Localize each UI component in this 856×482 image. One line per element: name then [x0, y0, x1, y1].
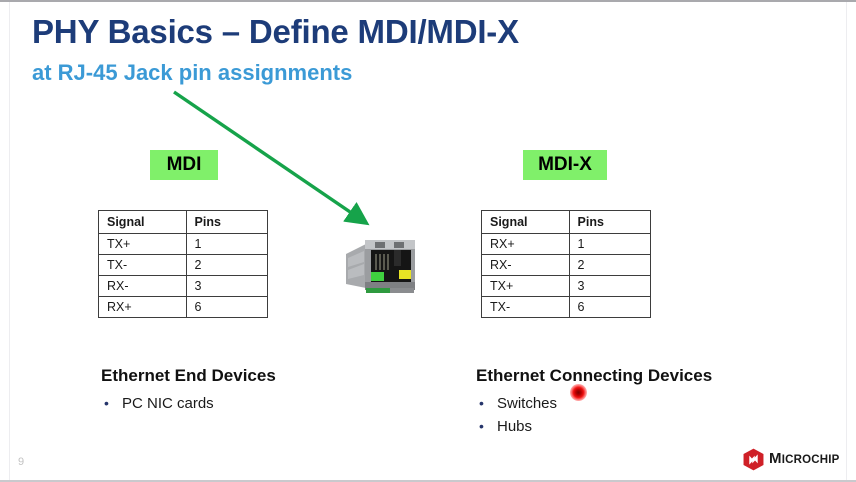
laser-pointer-dot: [570, 384, 587, 401]
bullet-icon: •: [479, 395, 497, 411]
list-item-label: PC NIC cards: [122, 395, 214, 412]
mdi-pin-table: Signal Pins TX+ 1 TX- 2 RX- 3 RX+ 6: [98, 210, 268, 318]
cell-pin: 6: [569, 297, 650, 318]
mdix-pin-table: Signal Pins RX+ 1 RX- 2 TX+ 3 TX- 6: [481, 210, 651, 318]
bullet-icon: •: [104, 395, 122, 411]
cell-pin: 3: [186, 276, 267, 297]
cell-signal: RX+: [99, 297, 187, 318]
cell-pin: 3: [569, 276, 650, 297]
section-heading-end-devices: Ethernet End Devices: [101, 366, 276, 386]
cell-pin: 1: [186, 234, 267, 255]
cell-signal: RX-: [99, 276, 187, 297]
cell-pin: 2: [569, 255, 650, 276]
microchip-mark-icon: [742, 448, 765, 471]
rj45-jack-image: [344, 228, 420, 300]
logo-text-cap: M: [769, 450, 782, 467]
microchip-logo: MICROCHIP: [742, 447, 846, 473]
list-item-label: Switches: [497, 395, 557, 412]
list-item: •Hubs: [479, 418, 532, 435]
logo-text-rest: ICROCHIP: [782, 454, 840, 466]
microchip-wordmark: MICROCHIP: [769, 450, 840, 467]
cell-signal: TX-: [482, 297, 570, 318]
player-frame-right-border: [846, 2, 847, 480]
player-frame-left-border: [9, 2, 10, 480]
mdi-label-badge: MDI: [150, 150, 218, 180]
cell-pin: 1: [569, 234, 650, 255]
table-row: RX- 3: [99, 276, 268, 297]
section-heading-connecting-devices: Ethernet Connecting Devices: [476, 366, 712, 386]
table-header-row: Signal Pins: [482, 211, 651, 234]
list-item: •PC NIC cards: [104, 395, 214, 412]
table-header-row: Signal Pins: [99, 211, 268, 234]
cell-signal: RX-: [482, 255, 570, 276]
mdix-label-badge: MDI-X: [523, 150, 607, 180]
slide-title: PHY Basics – Define MDI/MDI-X: [32, 13, 519, 51]
table-row: TX- 2: [99, 255, 268, 276]
cell-signal: TX-: [99, 255, 187, 276]
cell-signal: RX+: [482, 234, 570, 255]
cell-signal: TX+: [99, 234, 187, 255]
table-row: RX+ 1: [482, 234, 651, 255]
cell-pin: 2: [186, 255, 267, 276]
table-row: TX- 6: [482, 297, 651, 318]
player-frame-top-border: [0, 0, 856, 2]
table-row: RX+ 6: [99, 297, 268, 318]
table-row: TX+ 1: [99, 234, 268, 255]
table-row: RX- 2: [482, 255, 651, 276]
bullet-icon: •: [479, 418, 497, 434]
cell-signal: TX+: [482, 276, 570, 297]
slide-canvas: PHY Basics – Define MDI/MDI-X at RJ-45 J…: [0, 0, 856, 482]
list-item-label: Hubs: [497, 418, 532, 435]
slide-number: 9: [18, 456, 24, 468]
column-header-pins: Pins: [186, 211, 267, 234]
table-row: TX+ 3: [482, 276, 651, 297]
column-header-pins: Pins: [569, 211, 650, 234]
column-header-signal: Signal: [99, 211, 187, 234]
column-header-signal: Signal: [482, 211, 570, 234]
cell-pin: 6: [186, 297, 267, 318]
list-item: •Switches: [479, 395, 557, 412]
